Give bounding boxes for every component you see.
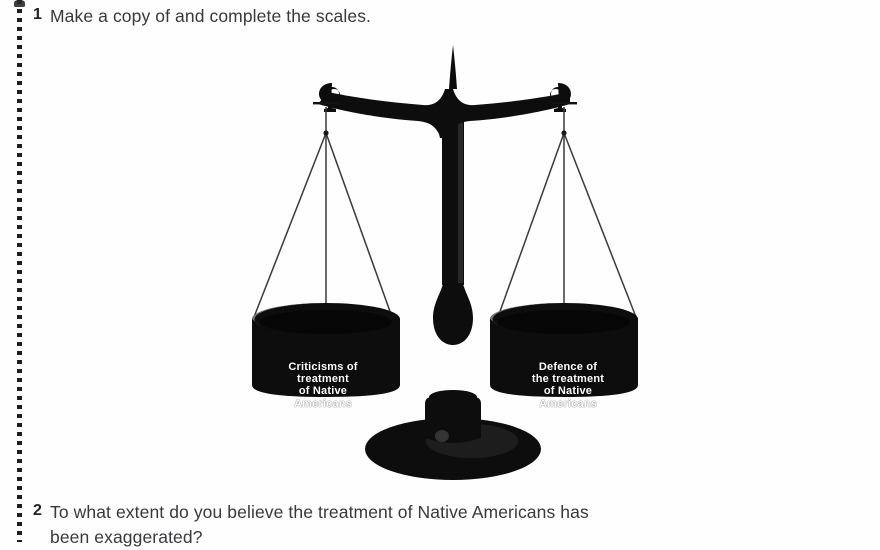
left-pan-inner: [260, 310, 392, 334]
right-pan-inner: [498, 310, 630, 334]
left-hook-crossbar: [313, 102, 339, 104]
right-pan-label-line-3: of Native: [503, 385, 633, 397]
question-number: 2: [33, 500, 50, 521]
pedestal-knob: [435, 430, 449, 442]
pedestal-collar: [429, 390, 477, 404]
right-pan-label: Defence of the treatment of Native Ameri…: [503, 361, 633, 410]
left-pan-label-line-2: treatment: [258, 373, 388, 385]
margin-line-cap: [14, 0, 25, 7]
right-pan-label-line-1: Defence of: [503, 361, 633, 373]
scale-baluster: [433, 277, 473, 345]
left-wire-knot: [323, 130, 328, 135]
question-number: 1: [33, 4, 50, 25]
left-pan-label-line-4: Americans: [258, 398, 388, 410]
right-pan-label-line-2: the treatment: [503, 373, 633, 385]
left-pan-label: Criticisms of treatment of Native Americ…: [258, 361, 388, 410]
right-pan-label-line-4: Americans: [503, 398, 633, 410]
balance-scales-illustration: [210, 45, 680, 490]
dotted-margin-line: [17, 0, 22, 542]
left-pan-label-line-3: of Native: [258, 385, 388, 397]
question-text: Make a copy of and complete the scales.: [50, 4, 371, 29]
question-item-2: 2 To what extent do you believe the trea…: [33, 500, 860, 550]
scale-finial: [449, 45, 457, 89]
left-suspension-wires: [254, 107, 392, 323]
worksheet-page: 1 Make a copy of and complete the scales…: [0, 0, 880, 542]
question-item-1: 1 Make a copy of and complete the scales…: [33, 4, 371, 29]
scale-column-highlight: [458, 115, 463, 283]
right-wire-knot: [561, 130, 566, 135]
right-suspension-wires: [498, 107, 636, 323]
left-pan-label-line-1: Criticisms of: [258, 361, 388, 373]
question-text: To what extent do you believe the treatm…: [50, 500, 860, 550]
right-hook-crossbar: [551, 102, 577, 104]
